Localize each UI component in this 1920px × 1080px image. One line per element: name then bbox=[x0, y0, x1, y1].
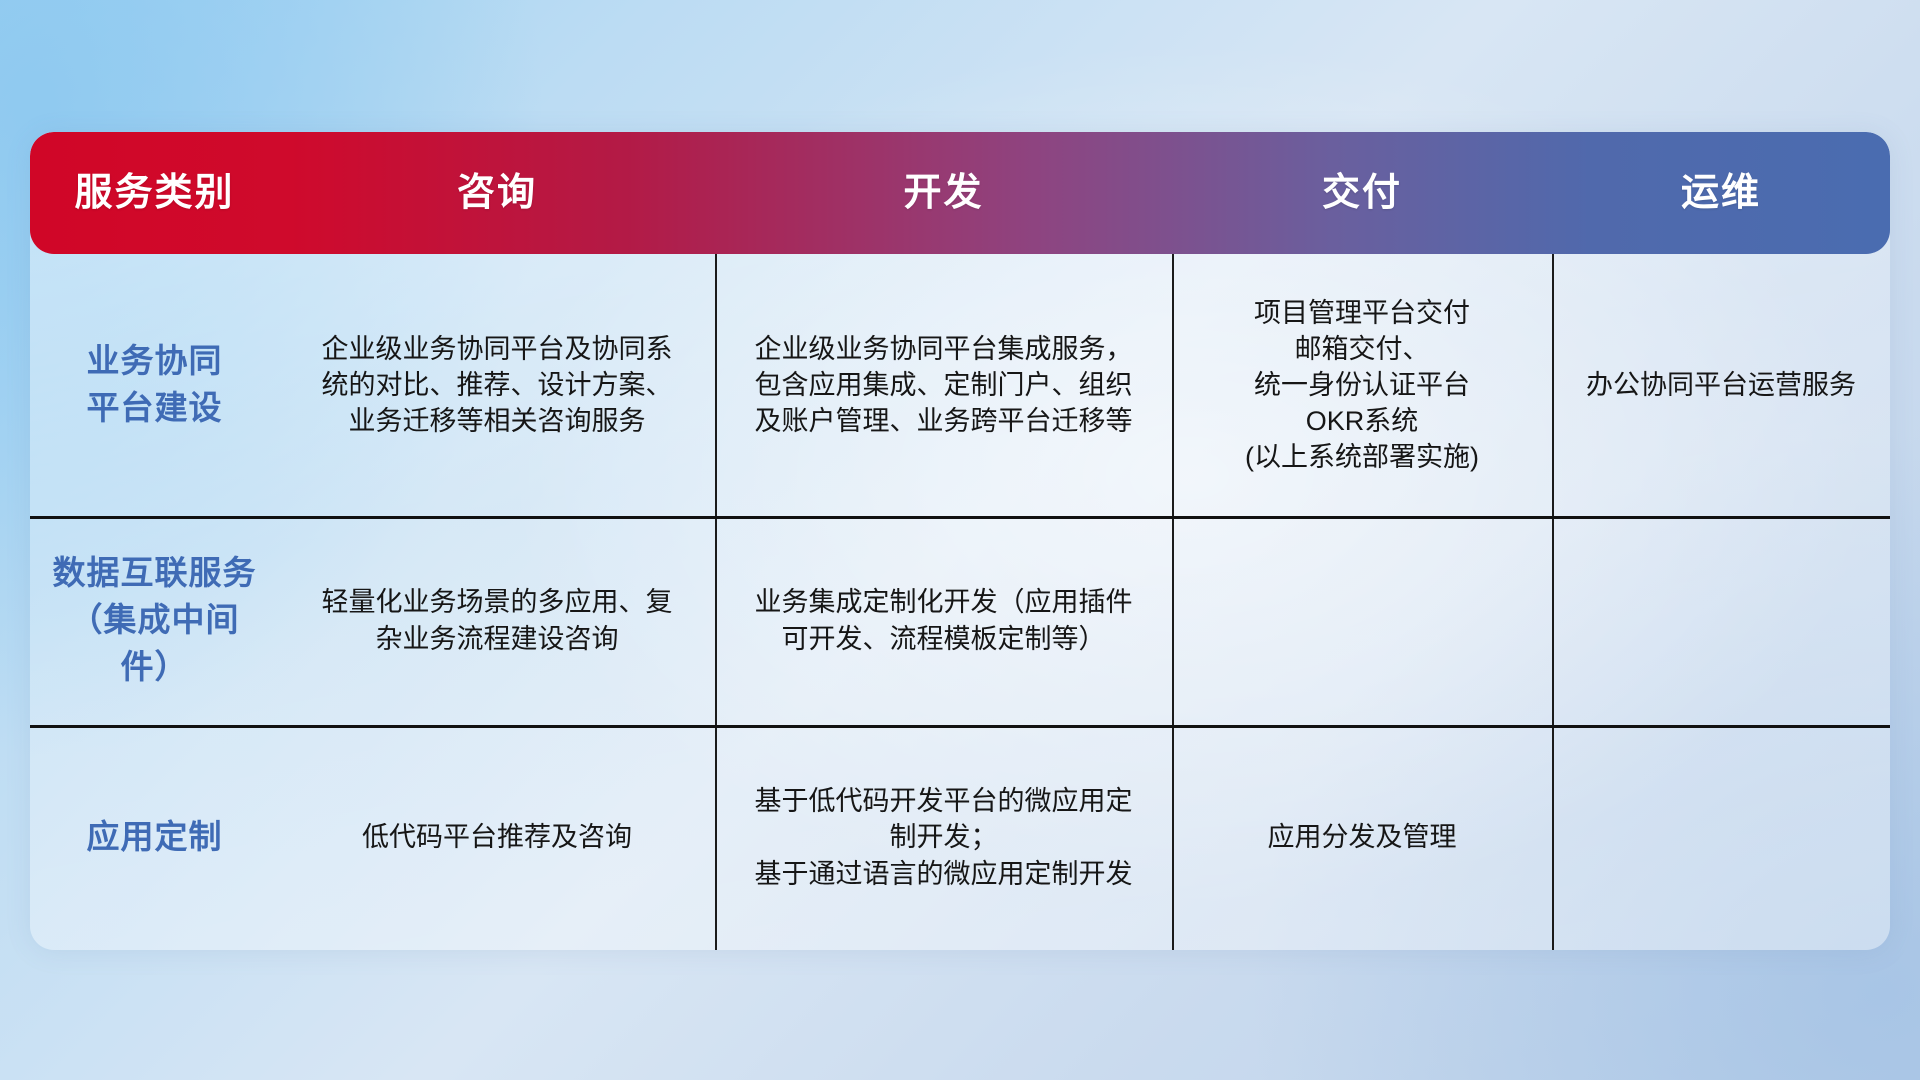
row-label-application-customization: 应用定制 bbox=[30, 725, 279, 950]
cell-row1-delivery: 项目管理平台交付 邮箱交付、 统一身份认证平台 OKR系统 (以上系统部署实施) bbox=[1172, 254, 1552, 516]
column-header-delivery: 交付 bbox=[1172, 174, 1552, 212]
column-header-consulting: 咨询 bbox=[279, 174, 715, 212]
row-divider-1 bbox=[30, 516, 1890, 519]
table-row: 业务协同 平台建设 企业级业务协同平台及协同系 统的对比、推荐、设计方案、 业务… bbox=[30, 254, 1890, 516]
table-row: 应用定制 低代码平台推荐及咨询 基于低代码开发平台的微应用定 制开发； 基于通过… bbox=[30, 725, 1890, 950]
cell-row1-development: 企业级业务协同平台集成服务， 包含应用集成、定制门户、组织 及账户管理、业务跨平… bbox=[715, 254, 1172, 516]
cell-row3-development: 基于低代码开发平台的微应用定 制开发； 基于通过语言的微应用定制开发 bbox=[715, 725, 1172, 950]
service-matrix-table: 服务类别 咨询 开发 交付 运维 业务协同 平台建设 企业级业务协同平台及协同系… bbox=[30, 132, 1890, 950]
column-header-operations: 运维 bbox=[1552, 174, 1890, 212]
column-divider-development-delivery bbox=[1172, 254, 1174, 950]
table-row: 数据互联服务 （集成中间件） 轻量化业务场景的多应用、复 杂业务流程建设咨询 业… bbox=[30, 516, 1890, 725]
cell-row3-operations bbox=[1552, 725, 1890, 950]
cell-row2-consulting: 轻量化业务场景的多应用、复 杂业务流程建设咨询 bbox=[279, 516, 715, 725]
row-label-business-collaboration-platform: 业务协同 平台建设 bbox=[30, 254, 279, 516]
row-divider-2 bbox=[30, 725, 1890, 728]
table-header-row: 服务类别 咨询 开发 交付 运维 bbox=[30, 132, 1890, 254]
column-header-development: 开发 bbox=[715, 174, 1172, 212]
cell-row3-delivery: 应用分发及管理 bbox=[1172, 725, 1552, 950]
cell-row1-consulting: 企业级业务协同平台及协同系 统的对比、推荐、设计方案、 业务迁移等相关咨询服务 bbox=[279, 254, 715, 516]
cell-row3-consulting: 低代码平台推荐及咨询 bbox=[279, 725, 715, 950]
column-header-service-category: 服务类别 bbox=[30, 174, 279, 212]
table-body: 业务协同 平台建设 企业级业务协同平台及协同系 统的对比、推荐、设计方案、 业务… bbox=[30, 254, 1890, 950]
cell-row1-operations: 办公协同平台运营服务 bbox=[1552, 254, 1890, 516]
column-divider-delivery-operations bbox=[1552, 254, 1554, 950]
column-divider-consulting-development bbox=[715, 254, 717, 950]
cell-row2-delivery bbox=[1172, 516, 1552, 725]
row-label-data-interconnection-service: 数据互联服务 （集成中间件） bbox=[30, 516, 279, 725]
cell-row2-operations bbox=[1552, 516, 1890, 725]
cell-row2-development: 业务集成定制化开发（应用插件 可开发、流程模板定制等） bbox=[715, 516, 1172, 725]
